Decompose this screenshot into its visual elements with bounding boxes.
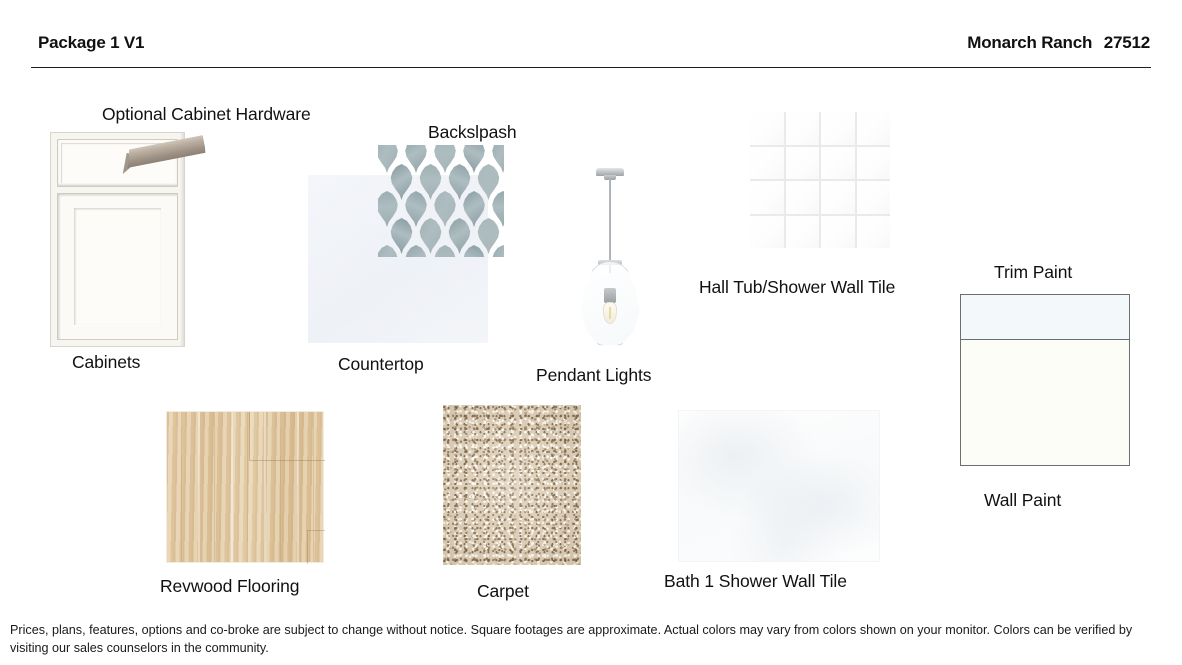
label-countertop: Countertop <box>338 354 424 375</box>
hall-tile-cell <box>786 181 820 214</box>
hall-tile-cell <box>857 147 891 180</box>
label-optional-cabinet-hardware: Optional Cabinet Hardware <box>102 104 311 125</box>
pendant-stem <box>609 179 611 273</box>
hall-tile-cell <box>821 181 855 214</box>
swatch-hall-tub-shower-wall-tile[interactable] <box>750 112 890 248</box>
cabinet-door-frame <box>57 193 178 340</box>
hall-tile-cell <box>821 147 855 180</box>
cabinet-door-inner-panel <box>74 208 161 325</box>
swatch-pendant-light[interactable] <box>560 168 660 358</box>
plank-seam <box>307 530 308 564</box>
page-title: Package 1 V1 <box>38 33 144 53</box>
pendant-socket <box>604 288 616 303</box>
backsplash-tile <box>401 245 431 257</box>
label-bath-1-shower-wall-tile: Bath 1 Shower Wall Tile <box>664 571 847 592</box>
swatch-carpet[interactable] <box>443 405 581 565</box>
backsplash-tile <box>459 245 489 257</box>
label-revwood-flooring: Revwood Flooring <box>160 576 299 597</box>
label-cabinets: Cabinets <box>72 352 140 373</box>
label-pendant-lights: Pendant Lights <box>536 365 651 386</box>
backsplash-tile <box>430 245 460 257</box>
hall-tile-cell <box>821 216 855 249</box>
hall-tile-cell <box>821 112 855 145</box>
label-hall-tub-shower-wall-tile: Hall Tub/Shower Wall Tile <box>699 277 895 298</box>
disclaimer-text: Prices, plans, features, options and co-… <box>10 622 1158 658</box>
hall-tile-cell <box>786 216 820 249</box>
carpet-sheen-overlay <box>443 405 581 565</box>
label-trim-paint: Trim Paint <box>994 262 1072 283</box>
label-wall-paint: Wall Paint <box>984 490 1061 511</box>
label-carpet: Carpet <box>477 581 529 602</box>
hall-tile-cell <box>857 181 891 214</box>
board-header: Package 1 V1 Monarch Ranch 27512 <box>0 0 1182 72</box>
plank-seam <box>249 460 325 461</box>
header-divider <box>31 67 1151 68</box>
hall-tile-cell <box>786 112 820 145</box>
plan-number: 27512 <box>1104 33 1150 52</box>
hall-tile-cell <box>786 147 820 180</box>
plank-seam <box>307 530 325 531</box>
swatch-wall-paint[interactable] <box>961 341 1129 465</box>
hall-tile-cell <box>750 147 784 180</box>
swatch-revwood-flooring[interactable] <box>166 411 324 563</box>
hall-tile-cell <box>750 112 784 145</box>
swatch-backsplash[interactable] <box>378 145 504 257</box>
swatch-trim-paint[interactable] <box>961 295 1129 340</box>
hall-tile-cell <box>857 112 891 145</box>
swatch-bath-1-shower-wall-tile[interactable] <box>678 410 880 562</box>
pendant-filament <box>609 307 611 319</box>
swatch-paint-group[interactable] <box>960 294 1130 466</box>
hall-tile-cell <box>750 216 784 249</box>
community-name: Monarch Ranch <box>967 33 1092 52</box>
plank-seam <box>249 412 250 460</box>
community-and-plan: Monarch Ranch 27512 <box>967 33 1150 53</box>
label-backsplash: Backslpash <box>428 122 517 143</box>
hall-tile-cell <box>750 181 784 214</box>
hall-tile-cell <box>857 216 891 249</box>
